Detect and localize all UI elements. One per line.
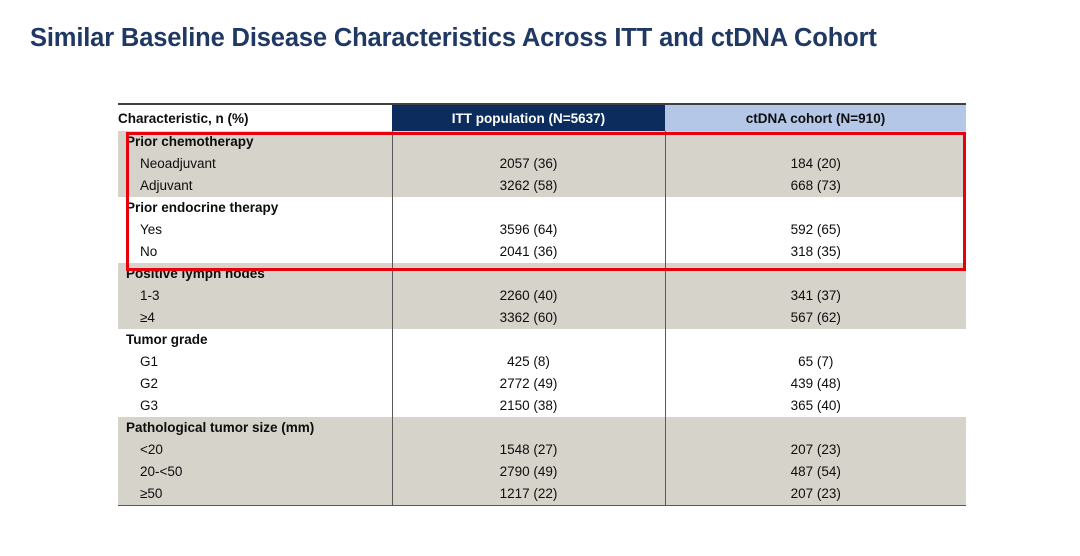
row-section-label: Tumor grade — [118, 329, 392, 351]
cell-ctdna-value — [665, 329, 966, 351]
row-item-label: Yes — [118, 219, 392, 241]
cell-itt-value: 2150 (38) — [392, 395, 665, 417]
cell-itt-value: 3362 (60) — [392, 307, 665, 329]
cell-ctdna-value: 207 (23) — [665, 439, 966, 461]
cell-ctdna-value: 318 (35) — [665, 241, 966, 263]
table-row: <201548 (27)207 (23) — [118, 439, 966, 461]
row-item-label: 20-<50 — [118, 461, 392, 483]
row-item-label: G1 — [118, 351, 392, 373]
cell-itt-value: 1217 (22) — [392, 483, 665, 506]
table-row: G32150 (38)365 (40) — [118, 395, 966, 417]
page-title: Similar Baseline Disease Characteristics… — [30, 24, 1060, 53]
table-row: ≥43362 (60)567 (62) — [118, 307, 966, 329]
cell-itt-value: 1548 (27) — [392, 439, 665, 461]
cell-ctdna-value: 341 (37) — [665, 285, 966, 307]
cell-itt-value — [392, 329, 665, 351]
cell-itt-value: 2790 (49) — [392, 461, 665, 483]
cell-itt-value — [392, 263, 665, 285]
table-row: Pathological tumor size (mm) — [118, 417, 966, 439]
cell-ctdna-value — [665, 197, 966, 219]
row-item-label: <20 — [118, 439, 392, 461]
row-item-label: ≥50 — [118, 483, 392, 506]
row-item-label: No — [118, 241, 392, 263]
cell-ctdna-value: 439 (48) — [665, 373, 966, 395]
row-item-label: G3 — [118, 395, 392, 417]
row-section-label: Pathological tumor size (mm) — [118, 417, 392, 439]
cell-itt-value: 2041 (36) — [392, 241, 665, 263]
cell-ctdna-value — [665, 131, 966, 153]
table-row: Yes3596 (64)592 (65) — [118, 219, 966, 241]
table-row: Adjuvant3262 (58)668 (73) — [118, 175, 966, 197]
column-header-itt-population: ITT population (N=5637) — [392, 104, 665, 131]
row-section-label: Prior endocrine therapy — [118, 197, 392, 219]
cell-ctdna-value: 65 (7) — [665, 351, 966, 373]
cell-ctdna-value — [665, 263, 966, 285]
cell-itt-value — [392, 417, 665, 439]
slide-canvas: Similar Baseline Disease Characteristics… — [0, 0, 1080, 556]
cell-ctdna-value: 487 (54) — [665, 461, 966, 483]
row-item-label: ≥4 — [118, 307, 392, 329]
characteristics-table-wrapper: Characteristic, n (%) ITT population (N=… — [118, 103, 966, 506]
cell-itt-value: 3262 (58) — [392, 175, 665, 197]
table-row: Tumor grade — [118, 329, 966, 351]
cell-ctdna-value: 184 (20) — [665, 153, 966, 175]
table-header-row: Characteristic, n (%) ITT population (N=… — [118, 104, 966, 131]
row-item-label: Neoadjuvant — [118, 153, 392, 175]
table-row: 1-32260 (40)341 (37) — [118, 285, 966, 307]
table-row: ≥501217 (22)207 (23) — [118, 483, 966, 506]
column-header-characteristic: Characteristic, n (%) — [118, 104, 392, 131]
row-section-label: Prior chemotherapy — [118, 131, 392, 153]
table-row: G1425 (8)65 (7) — [118, 351, 966, 373]
row-section-label: Positive lymph nodes — [118, 263, 392, 285]
cell-itt-value: 425 (8) — [392, 351, 665, 373]
cell-itt-value: 2057 (36) — [392, 153, 665, 175]
cell-itt-value: 3596 (64) — [392, 219, 665, 241]
table-row: No2041 (36)318 (35) — [118, 241, 966, 263]
column-header-ctdna-cohort: ctDNA cohort (N=910) — [665, 104, 966, 131]
row-item-label: Adjuvant — [118, 175, 392, 197]
table-row: 20-<502790 (49)487 (54) — [118, 461, 966, 483]
table-body: Prior chemotherapyNeoadjuvant2057 (36)18… — [118, 131, 966, 506]
cell-ctdna-value: 668 (73) — [665, 175, 966, 197]
cell-ctdna-value — [665, 417, 966, 439]
row-item-label: 1-3 — [118, 285, 392, 307]
cell-itt-value — [392, 131, 665, 153]
cell-ctdna-value: 592 (65) — [665, 219, 966, 241]
cell-itt-value: 2772 (49) — [392, 373, 665, 395]
row-item-label: G2 — [118, 373, 392, 395]
characteristics-table: Characteristic, n (%) ITT population (N=… — [118, 103, 966, 506]
cell-itt-value — [392, 197, 665, 219]
table-row: Neoadjuvant2057 (36)184 (20) — [118, 153, 966, 175]
table-row: Prior chemotherapy — [118, 131, 966, 153]
cell-itt-value: 2260 (40) — [392, 285, 665, 307]
cell-ctdna-value: 365 (40) — [665, 395, 966, 417]
cell-ctdna-value: 567 (62) — [665, 307, 966, 329]
table-row: Prior endocrine therapy — [118, 197, 966, 219]
cell-ctdna-value: 207 (23) — [665, 483, 966, 506]
table-header: Characteristic, n (%) ITT population (N=… — [118, 104, 966, 131]
table-row: Positive lymph nodes — [118, 263, 966, 285]
table-row: G22772 (49)439 (48) — [118, 373, 966, 395]
